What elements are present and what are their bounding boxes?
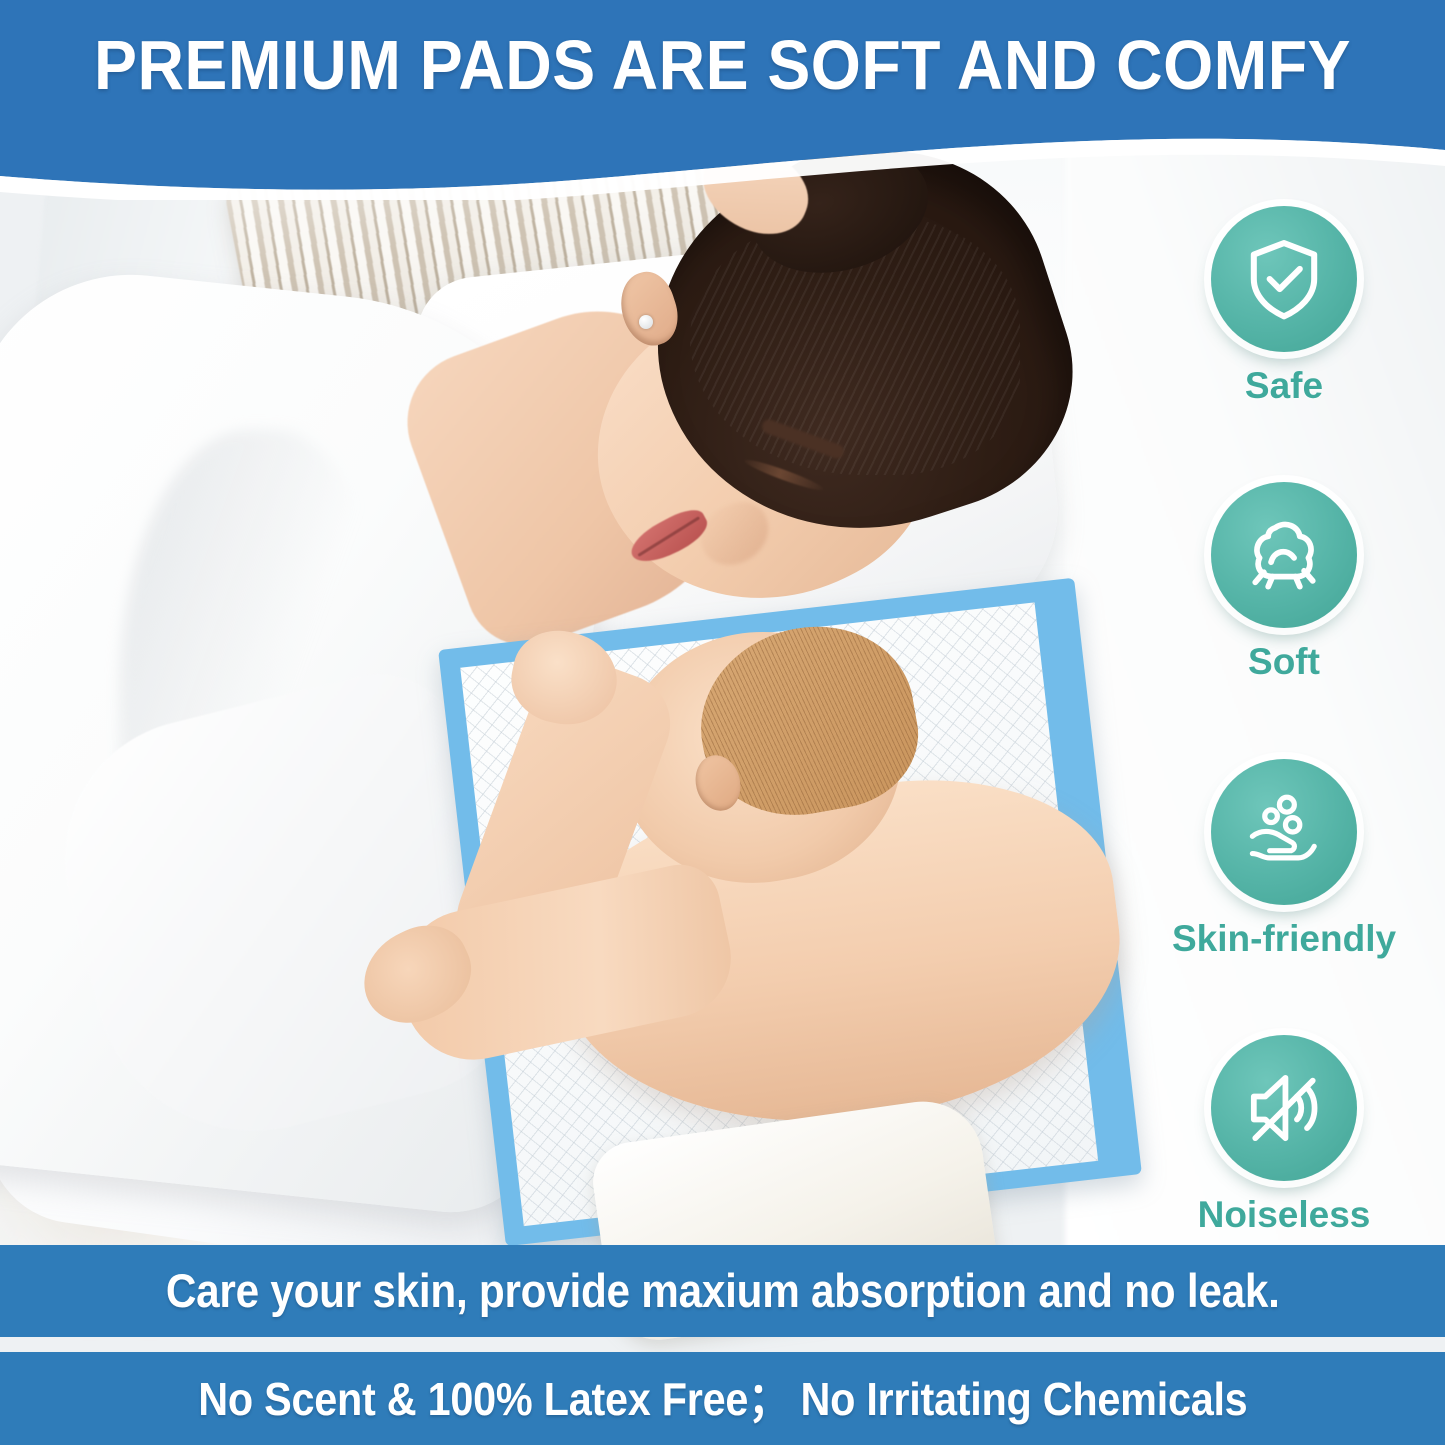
feature-label-noiseless: Noiseless — [1198, 1194, 1371, 1236]
feature-badge-noiseless[interactable] — [1211, 1035, 1357, 1181]
feature-badge-skin-friendly[interactable] — [1211, 759, 1357, 905]
feature-badge-safe[interactable] — [1211, 206, 1357, 352]
product-feature-image: PREMIUM PADS ARE SOFT AND COMFY Safe Sof… — [0, 0, 1445, 1445]
tagline-bar-secondary: No Scent & 100% Latex Free； No Irritatin… — [0, 1352, 1445, 1445]
feature-label-soft: Soft — [1248, 641, 1320, 683]
speaker-mute-icon — [1238, 1062, 1330, 1154]
tagline-bar-primary: Care your skin, provide maxium absorptio… — [0, 1245, 1445, 1337]
page-title: PREMIUM PADS ARE SOFT AND COMFY — [58, 26, 1387, 104]
header-banner: PREMIUM PADS ARE SOFT AND COMFY — [0, 0, 1445, 200]
mother-earring — [639, 315, 653, 329]
feature-item-safe[interactable]: Safe — [1179, 206, 1389, 407]
feature-badge-soft[interactable] — [1211, 482, 1357, 628]
shield-check-icon — [1238, 233, 1330, 325]
feature-item-soft[interactable]: Soft — [1179, 482, 1389, 683]
tagline-text-secondary: No Scent & 100% Latex Free； No Irritatin… — [198, 1372, 1247, 1426]
feature-badge-list: Safe Soft Skin — [1179, 206, 1389, 1236]
cotton-cloud-icon — [1238, 509, 1330, 601]
feature-item-skin-friendly[interactable]: Skin-friendly — [1179, 759, 1389, 960]
feature-label-skin-friendly: Skin-friendly — [1172, 918, 1396, 960]
tagline-text-primary: Care your skin, provide maxium absorptio… — [166, 1264, 1280, 1318]
feature-item-noiseless[interactable]: Noiseless — [1179, 1035, 1389, 1236]
feature-label-safe: Safe — [1245, 365, 1323, 407]
hand-bubbles-icon — [1238, 786, 1330, 878]
